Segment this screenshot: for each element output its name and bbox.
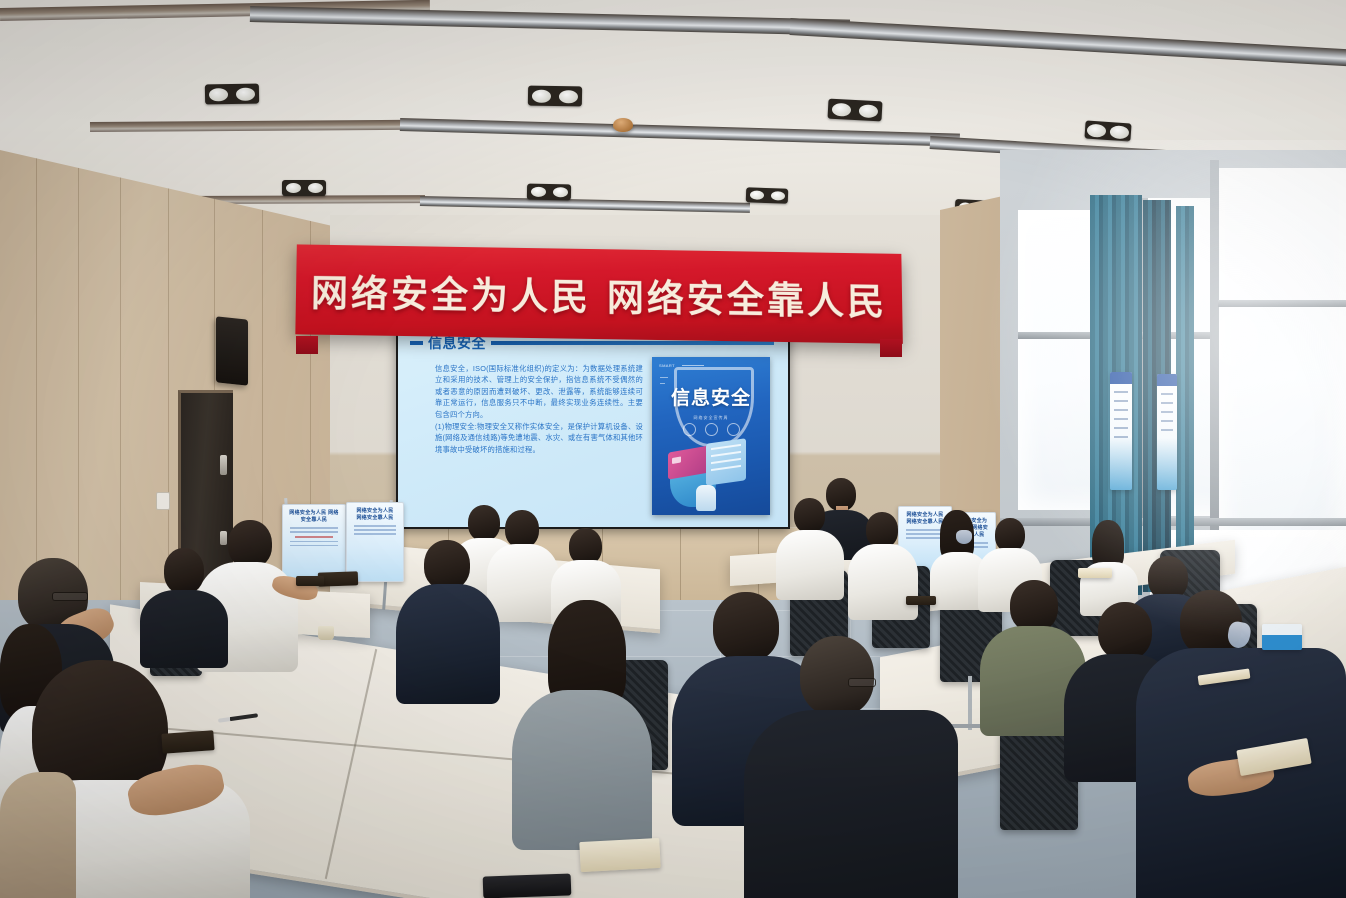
window-mullion bbox=[1210, 160, 1219, 560]
head bbox=[228, 520, 272, 568]
head bbox=[800, 636, 874, 716]
head bbox=[1010, 580, 1058, 632]
cup bbox=[318, 626, 334, 640]
notebook-open[interactable] bbox=[579, 838, 660, 872]
slide-dash-icon bbox=[410, 341, 423, 345]
notebook[interactable] bbox=[1078, 568, 1112, 578]
downlight bbox=[528, 86, 582, 107]
glasses bbox=[848, 678, 876, 687]
slide-paragraph: (1)物理安全:物理安全又称作实体安全，是保护计算机设备、设施(网络及通信线路)… bbox=[435, 421, 643, 455]
torso bbox=[744, 710, 958, 898]
torso bbox=[396, 584, 500, 704]
light-switch[interactable] bbox=[156, 492, 170, 510]
notebook[interactable] bbox=[296, 576, 324, 586]
head bbox=[424, 540, 470, 590]
ceiling-strip-chrome bbox=[420, 196, 750, 213]
downlight bbox=[282, 180, 326, 196]
head bbox=[505, 510, 539, 548]
wall-speaker-icon bbox=[216, 316, 248, 385]
face-mask bbox=[956, 530, 972, 544]
window-pane bbox=[1218, 168, 1346, 548]
curtain bbox=[1176, 206, 1194, 590]
phone[interactable] bbox=[483, 873, 572, 898]
head bbox=[866, 512, 898, 548]
head bbox=[713, 592, 779, 662]
head bbox=[995, 518, 1025, 552]
downlight bbox=[746, 187, 788, 203]
slide-body: 信息安全，ISO(国际标准化组织)的定义为：为数据处理系统建立和采用的技术、管理… bbox=[435, 363, 643, 456]
glasses bbox=[52, 592, 88, 601]
head bbox=[1098, 602, 1152, 660]
poster-icon-row bbox=[652, 423, 770, 436]
wall-sign bbox=[1110, 372, 1132, 490]
notebook[interactable] bbox=[906, 596, 936, 605]
placard: 网络安全为人民 网络安全靠人民 bbox=[282, 504, 346, 582]
placard: 网络安全为人民 网络安全靠人民 bbox=[346, 502, 404, 582]
head bbox=[468, 505, 500, 541]
slide-rule bbox=[491, 341, 774, 345]
placard-title: 网络安全为人民 网络安全靠人民 bbox=[289, 510, 339, 524]
smoke-detector-icon bbox=[613, 118, 633, 132]
placard-title: 网络安全为人民 网络安全靠人民 bbox=[905, 512, 945, 526]
downlight bbox=[527, 184, 571, 201]
torso bbox=[487, 544, 559, 622]
window-mullion bbox=[1218, 300, 1346, 307]
torso bbox=[776, 530, 844, 600]
ceiling-strip-chrome bbox=[250, 6, 850, 36]
projection-screen: 信息安全 信息安全，ISO(国际标准化组织)的定义为：为数据处理系统建立和采用的… bbox=[396, 325, 790, 529]
banner-tail bbox=[296, 336, 318, 354]
chair-back bbox=[0, 772, 76, 898]
banner-tail bbox=[880, 339, 902, 357]
slide-paragraph: 信息安全，ISO(国际标准化组织)的定义为：为数据处理系统建立和采用的技术、管理… bbox=[435, 363, 643, 420]
chair-stem bbox=[968, 676, 972, 730]
tissue-box[interactable] bbox=[1262, 624, 1302, 650]
torso bbox=[140, 590, 228, 668]
poster-subtitle: 网络安全宣传周 bbox=[652, 415, 770, 421]
red-banner: 网络安全为人民 网络安全靠人民 bbox=[295, 244, 902, 343]
downlight bbox=[828, 99, 883, 122]
notebook[interactable] bbox=[161, 730, 214, 754]
head bbox=[794, 498, 825, 533]
poster-brand: SMART bbox=[659, 363, 675, 368]
banner-text: 网络安全为人民 网络安全靠人民 bbox=[311, 263, 888, 326]
torso bbox=[848, 544, 918, 620]
placard-title: 网络安全为人民 网络安全靠人民 bbox=[353, 508, 397, 522]
poster-title: 信息安全 bbox=[652, 383, 770, 410]
ceiling-strip-chrome bbox=[790, 18, 1346, 67]
slide: 信息安全 信息安全，ISO(国际标准化组织)的定义为：为数据处理系统建立和采用的… bbox=[398, 327, 788, 527]
photo-scene: 信息安全 信息安全，ISO(国际标准化组织)的定义为：为数据处理系统建立和采用的… bbox=[0, 0, 1346, 898]
wall-sign bbox=[1157, 374, 1177, 490]
ceiling-strip-chrome bbox=[400, 118, 960, 147]
ceiling-strip bbox=[90, 120, 410, 132]
head bbox=[164, 548, 204, 594]
window-mullion bbox=[1000, 518, 1346, 526]
slide-poster-image: SMART 信息安全 网络安全宣传周 bbox=[652, 357, 770, 515]
downlight bbox=[1084, 120, 1131, 141]
downlight bbox=[205, 84, 259, 105]
window-card-icon bbox=[706, 438, 746, 486]
torso bbox=[512, 690, 652, 850]
person-illustration bbox=[696, 485, 716, 511]
